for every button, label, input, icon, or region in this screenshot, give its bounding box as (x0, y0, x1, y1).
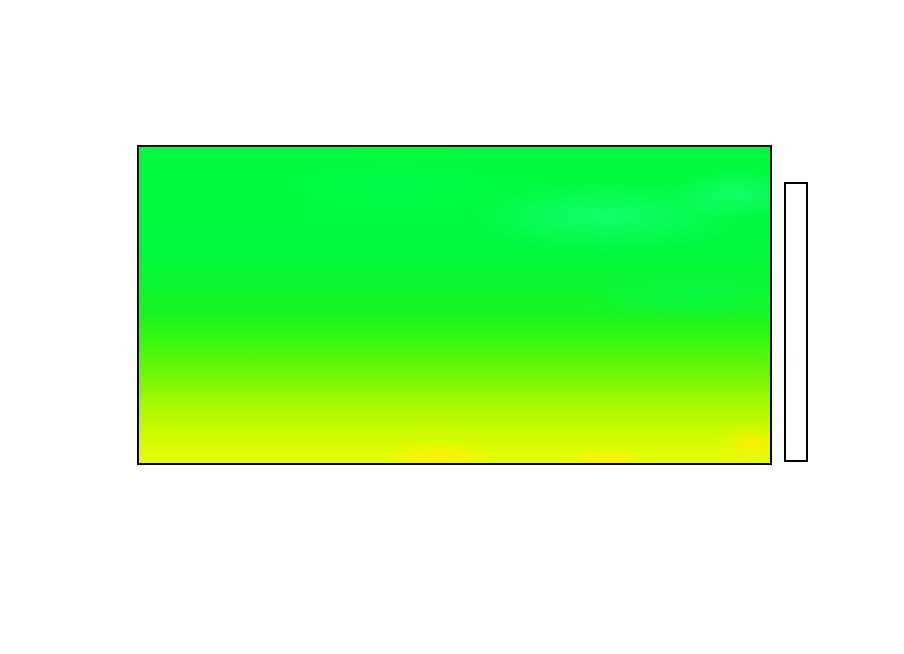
contour-plot-area (137, 145, 772, 465)
contour-field (139, 147, 770, 463)
colorbar (784, 182, 808, 462)
